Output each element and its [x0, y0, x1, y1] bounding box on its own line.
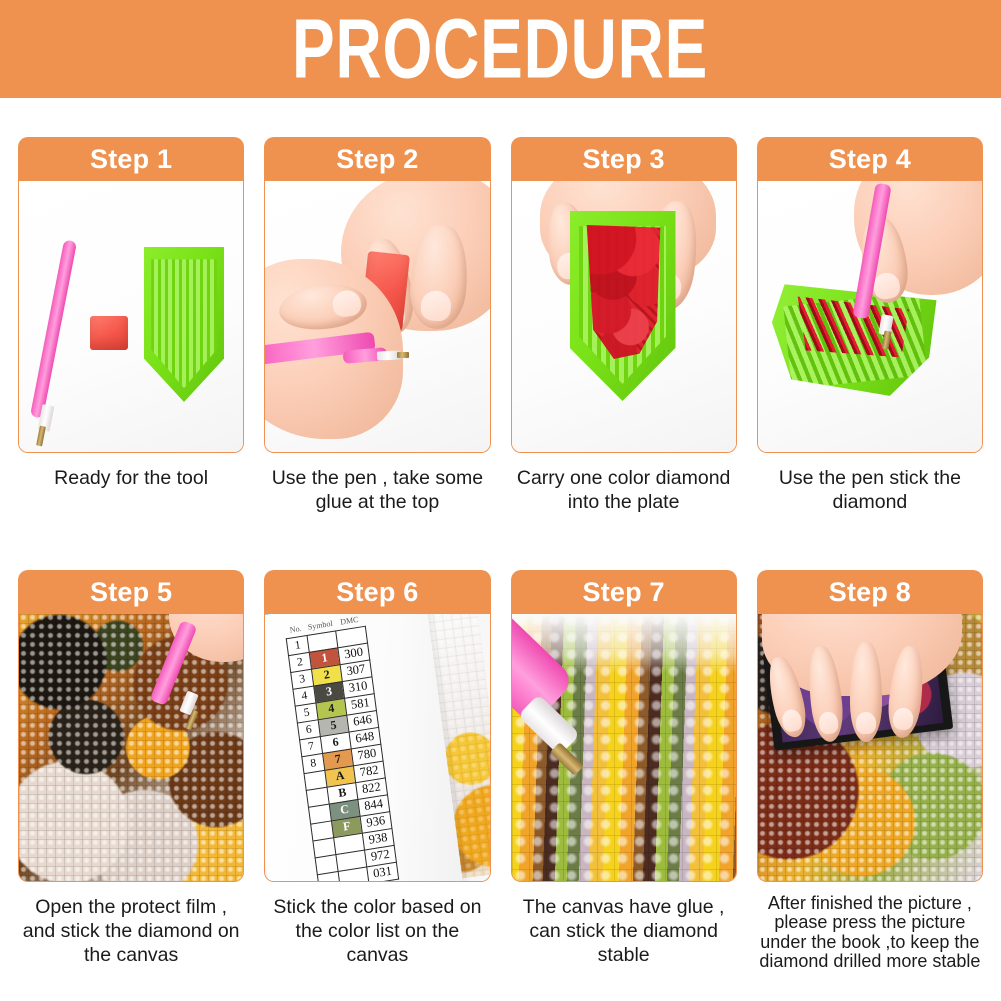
step-header-4: Step 4: [757, 137, 983, 181]
step-header-8: Step 8: [757, 570, 983, 614]
step-card-5: Step 5 Open the protect film , and stick…: [18, 570, 244, 972]
step-caption-1: Ready for the tool: [18, 453, 244, 491]
step-caption-5: Open the protect film , and stick the di…: [18, 882, 244, 967]
step-label-4: Step 4: [829, 144, 911, 175]
step-card-2: Step 2: [264, 137, 490, 515]
step-caption-6: Stick the color based on the color list …: [264, 882, 490, 967]
step-caption-8: After finished the picture , please pres…: [757, 882, 983, 972]
step-card-6: Step 6 No.SymbolDMC121300323074331054581…: [264, 570, 490, 972]
pen-tip-metal: [397, 352, 409, 358]
step-header-5: Step 5: [18, 570, 244, 614]
step-image-2: [264, 181, 490, 453]
glue-block-icon: [90, 316, 128, 350]
step-caption-4: Use the pen stick the diamond: [757, 453, 983, 515]
step-caption-3: Carry one color diamond into the plate: [511, 453, 737, 515]
step-label-1: Step 1: [90, 144, 172, 175]
step-image-3: [511, 181, 737, 453]
procedure-infographic: PROCEDURE Step 1 Ready for the tool: [0, 0, 1001, 1001]
diamond-tray-icon: [144, 247, 224, 402]
step-header-2: Step 2: [264, 137, 490, 181]
step-image-8: [757, 614, 983, 882]
step-image-4: [757, 181, 983, 453]
step-label-2: Step 2: [336, 144, 418, 175]
step-header-6: Step 6: [264, 570, 490, 614]
step-header-1: Step 1: [18, 137, 244, 181]
step-image-1: [18, 181, 244, 453]
step-image-5: [18, 614, 244, 882]
steps-row-bottom: Step 5 Open the protect film , and stick…: [0, 570, 1001, 972]
step-card-4: Step 4: [757, 137, 983, 515]
step-card-7: Step 7 The canvas have glue , can stick …: [511, 570, 737, 972]
steps-row-top: Step 1 Ready for the tool Step 2: [0, 137, 1001, 515]
step-label-3: Step 3: [583, 144, 665, 175]
step-header-7: Step 7: [511, 570, 737, 614]
step-image-6: No.SymbolDMC1213003230743310545816564676…: [264, 614, 490, 882]
page-header-banner: PROCEDURE: [0, 0, 1001, 98]
step-image-7: [511, 614, 737, 882]
step-caption-7: The canvas have glue , can stick the dia…: [511, 882, 737, 967]
pink-pen-icon: [30, 239, 77, 418]
step-caption-2: Use the pen , take some glue at the top: [264, 453, 490, 515]
step-label-7: Step 7: [583, 577, 665, 608]
step-label-5: Step 5: [90, 577, 172, 608]
step-card-8: Step 8 After finished: [757, 570, 983, 972]
page-title: PROCEDURE: [292, 7, 708, 92]
finger-3: [850, 642, 882, 742]
step-header-3: Step 3: [511, 137, 737, 181]
step-label-6: Step 6: [336, 577, 418, 608]
step-label-8: Step 8: [829, 577, 911, 608]
step-card-3: Step 3 Carry one: [511, 137, 737, 515]
step-card-1: Step 1 Ready for the tool: [18, 137, 244, 515]
